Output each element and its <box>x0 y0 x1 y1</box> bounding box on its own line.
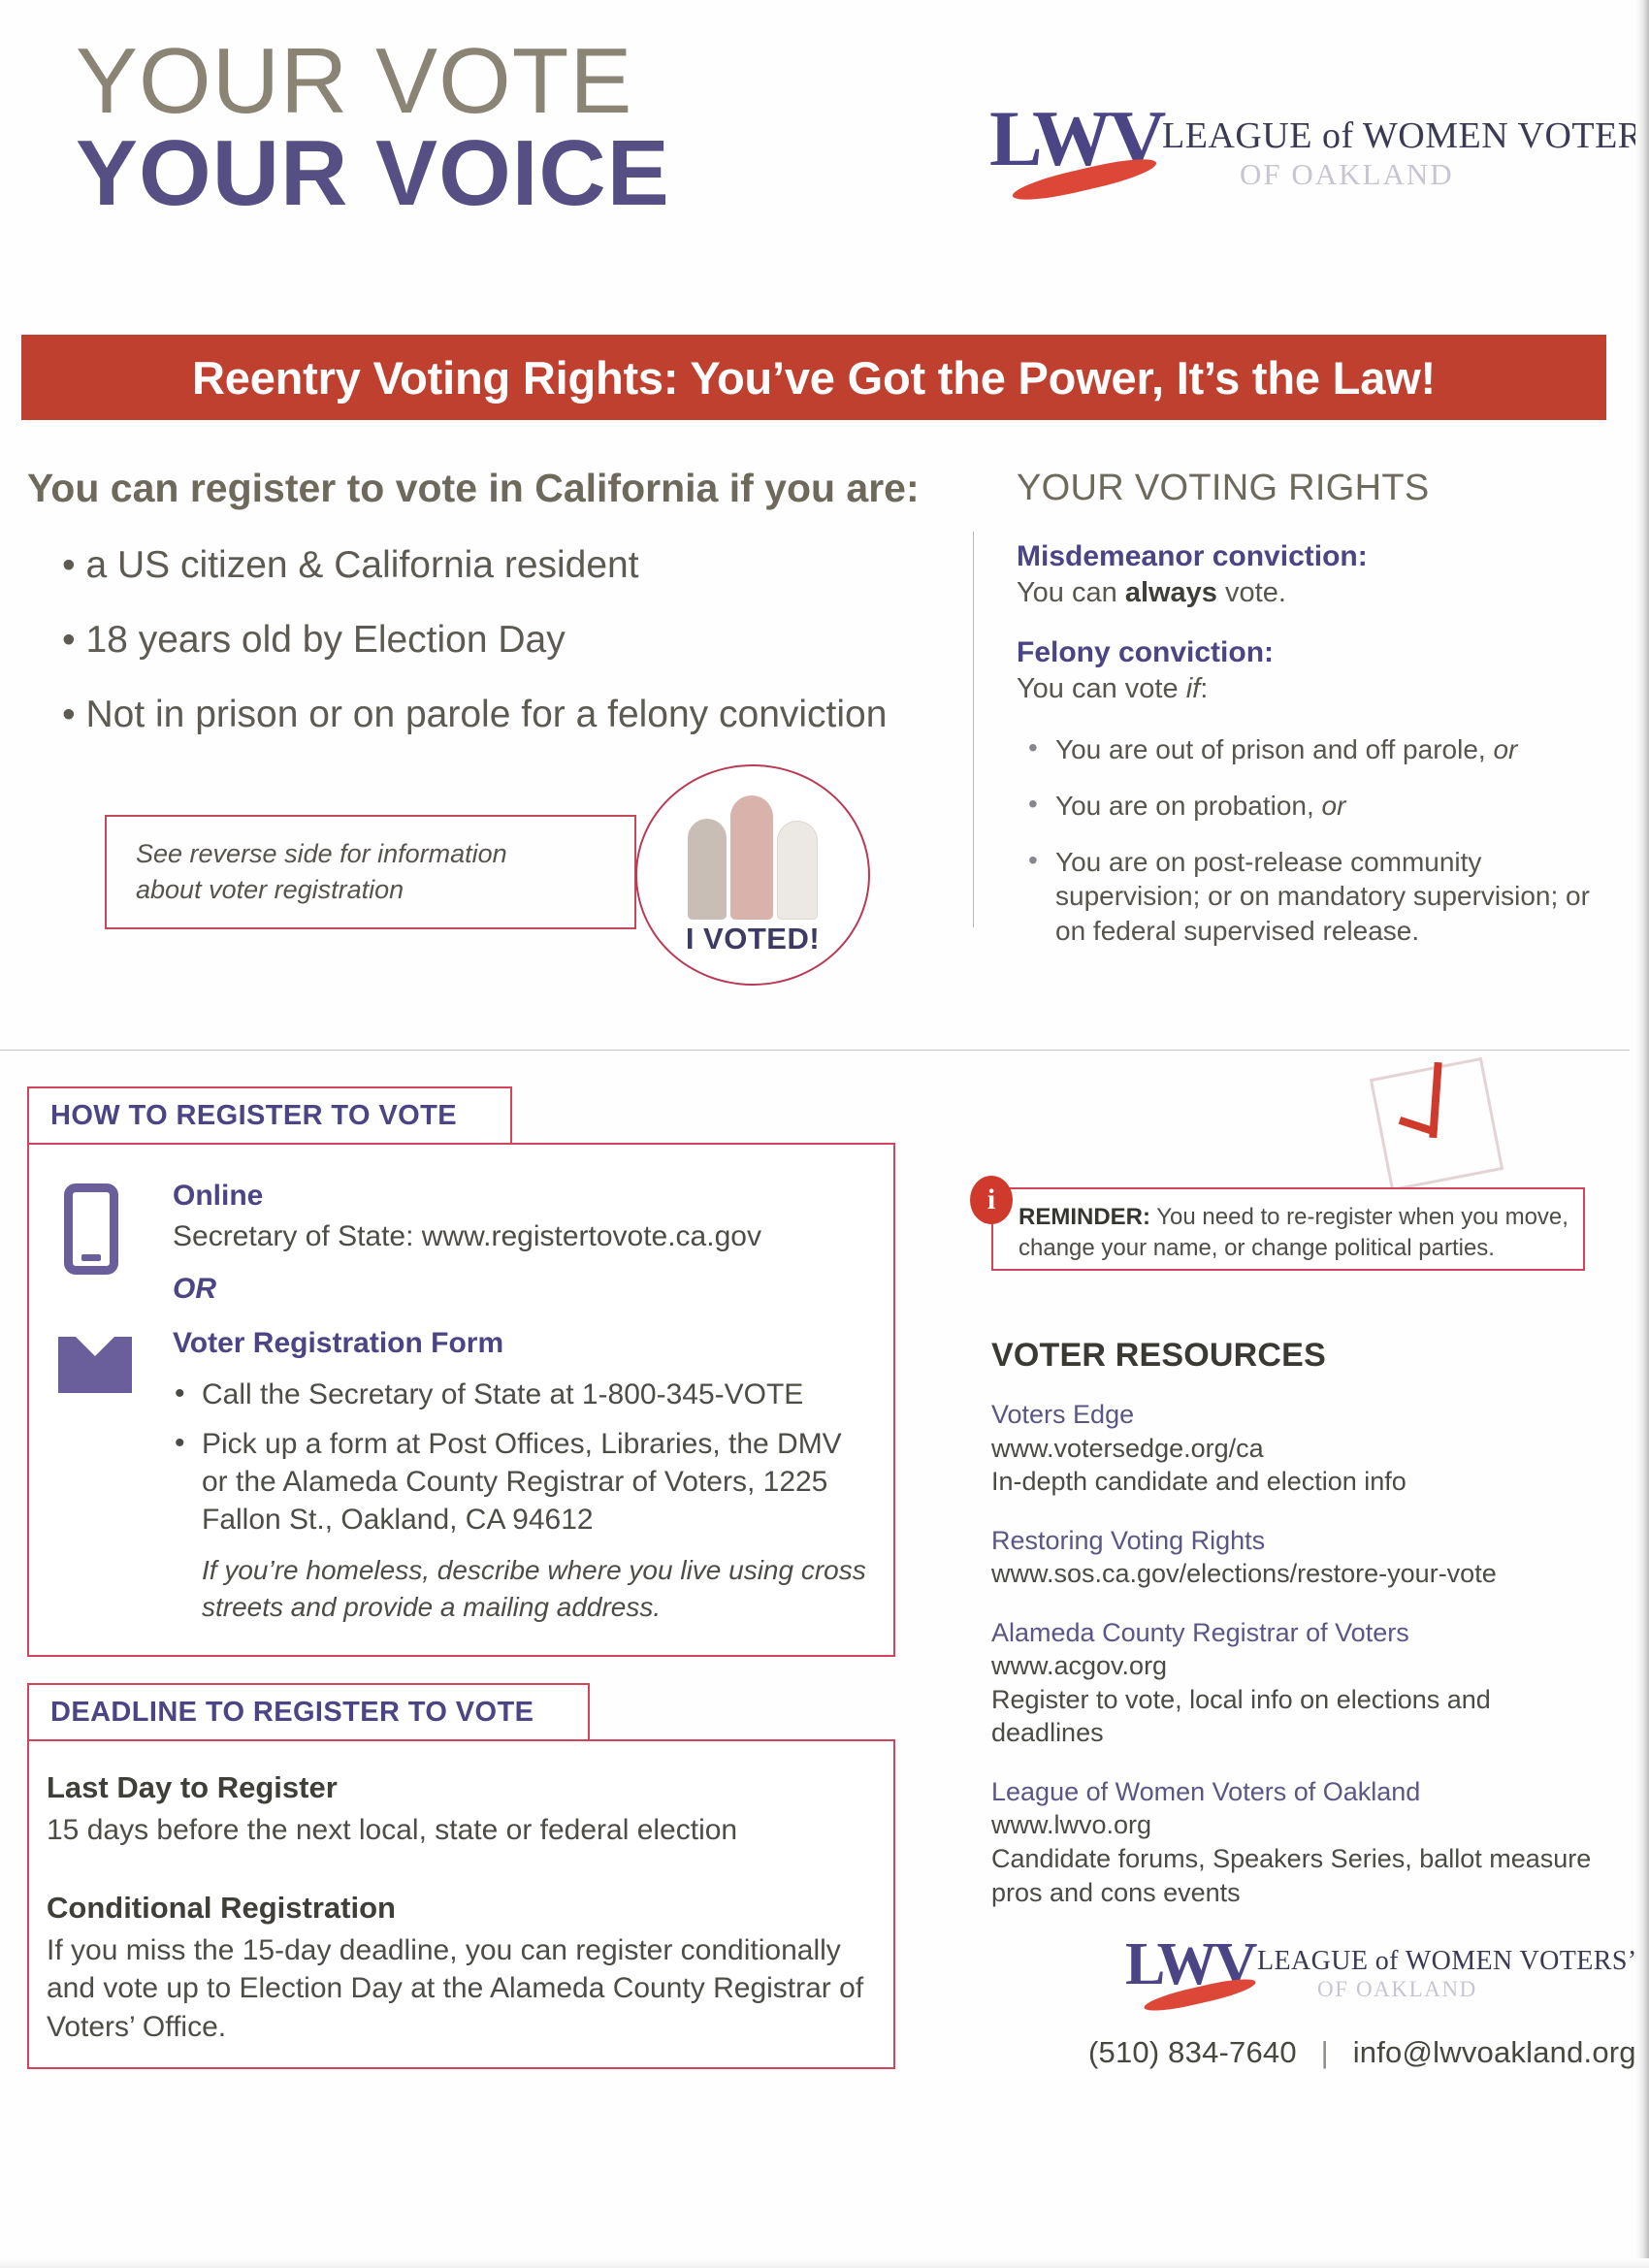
resource-url[interactable]: www.votersedge.org/ca <box>991 1432 1602 1466</box>
deadline-body: Last Day to Register 15 days before the … <box>27 1739 895 2069</box>
felony-bullet-text: You are on probation, <box>1055 791 1322 821</box>
title-line-2: YOUR VOICE <box>76 125 670 223</box>
headline-banner-text: Reentry Voting Rights: You’ve Got the Po… <box>192 351 1436 405</box>
resource-desc: Register to vote, local info on election… <box>991 1683 1602 1750</box>
resource-name: Alameda County Registrar of Voters <box>991 1616 1602 1650</box>
lwv-logo-line1: LEAGUE of WOMEN VOTERS’ <box>1162 114 1649 157</box>
scan-edge <box>1635 0 1649 2268</box>
headline-banner: Reentry Voting Rights: You’ve Got the Po… <box>21 335 1606 420</box>
last-day-body: 15 days before the next local, state or … <box>47 1811 871 1850</box>
eligibility-item: • 18 years old by Election Day <box>62 619 929 662</box>
footer-email[interactable]: info@lwvoakland.org <box>1353 2035 1636 2069</box>
resource-item: Voters Edge www.votersedge.org/ca In-dep… <box>991 1398 1602 1499</box>
resource-item: League of Women Voters of Oakland www.lw… <box>991 1775 1602 1909</box>
voting-rights-heading: YOUR VOTING RIGHTS <box>1017 468 1608 509</box>
form-note: If you’re homeless, describe where you l… <box>173 1552 871 1626</box>
felony-bullet-em: or <box>1493 734 1517 764</box>
voter-resources-heading: VOTER RESOURCES <box>991 1337 1602 1375</box>
i-voted-sticker: I VOTED! <box>635 764 870 986</box>
envelope-icon <box>58 1337 132 1393</box>
scan-edge <box>0 2258 1649 2268</box>
or-label: OR <box>173 1273 871 1306</box>
felony-bullet: You are out of prison and off parole, or <box>1028 732 1608 767</box>
flyer-page: YOUR VOTE YOUR VOICE LWV LEAGUE of WOMEN… <box>0 0 1649 2268</box>
title-line-1: YOUR VOTE <box>76 37 670 125</box>
misdemeanor-body: You can always vote. <box>1017 577 1608 609</box>
how-to-register-tab: HOW TO REGISTER TO VOTE <box>27 1086 512 1145</box>
deadline-tab-label: DEADLINE TO REGISTER TO VOTE <box>29 1697 533 1729</box>
hand-shape <box>688 819 727 920</box>
footer-separator: | <box>1306 2035 1344 2069</box>
raised-hands-icon <box>684 792 822 920</box>
reminder-text: REMINDER: You need to re-register when y… <box>993 1189 1583 1264</box>
online-title: Online <box>173 1180 871 1213</box>
hand-shape <box>777 821 818 920</box>
form-bullet: Pick up a form at Post Offices, Librarie… <box>173 1425 871 1539</box>
i-voted-label: I VOTED! <box>637 922 868 956</box>
felony-bullet: You are on post-release community superv… <box>1028 845 1608 949</box>
resource-url[interactable]: www.acgov.org <box>991 1649 1602 1683</box>
felony-bullet: You are on probation, or <box>1028 789 1608 824</box>
footer-phone[interactable]: (510) 834-7640 <box>1088 2035 1297 2069</box>
eligibility-item: • a US citizen & California resident <box>62 544 929 587</box>
felony-body: You can vote if: <box>1017 673 1608 705</box>
resource-name: Voters Edge <box>991 1398 1602 1432</box>
resource-desc: Candidate forums, Speakers Series, ballo… <box>991 1842 1602 1909</box>
reminder-box: REMINDER: You need to re-register when y… <box>991 1187 1585 1271</box>
resource-desc: In-depth candidate and election info <box>991 1465 1602 1499</box>
felony-title: Felony conviction: <box>1017 636 1608 669</box>
lwv-logo-header: LWV LEAGUE of WOMEN VOTERS’ OF OAKLAND <box>989 109 1571 215</box>
lwv-logo-line2: OF OAKLAND <box>1317 1977 1477 2002</box>
resource-item: Restoring Voting Rights www.sos.ca.gov/e… <box>991 1524 1602 1591</box>
lwv-logo-line1: LEAGUE of WOMEN VOTERS’ <box>1257 1946 1637 1977</box>
misdemeanor-body-pre: You can <box>1017 577 1125 608</box>
reminder-label: REMINDER: <box>1018 1204 1150 1230</box>
column-divider <box>973 532 974 927</box>
form-title: Voter Registration Form <box>173 1327 871 1360</box>
form-bullet: Call the Secretary of State at 1-800-345… <box>173 1376 871 1413</box>
misdemeanor-title: Misdemeanor conviction: <box>1017 540 1608 573</box>
deadline-tab: DEADLINE TO REGISTER TO VOTE <box>27 1683 590 1741</box>
felony-bullet-text: You are out of prison and off parole, <box>1055 734 1493 764</box>
felony-body-pre: You can vote <box>1017 673 1186 704</box>
reverse-side-line1: See reverse side for information <box>136 839 507 868</box>
how-to-register-tab-label: HOW TO REGISTER TO VOTE <box>29 1100 457 1132</box>
lwv-logo-footer: LWV LEAGUE of WOMEN VOTERS’ OF OAKLAND <box>1125 1940 1610 2033</box>
section-divider <box>0 1050 1630 1051</box>
felony-bullet-text: You are on post-release community superv… <box>1055 847 1590 947</box>
resource-name: League of Women Voters of Oakland <box>991 1775 1602 1809</box>
page-title: YOUR VOTE YOUR VOICE <box>76 37 670 223</box>
checkmark-icon <box>1389 1062 1457 1138</box>
resource-url[interactable]: www.lwvo.org <box>991 1808 1602 1842</box>
felony-bullet-em: or <box>1322 791 1346 821</box>
eligibility-section: You can register to vote in California i… <box>27 466 929 768</box>
reverse-side-callout: See reverse side for information about v… <box>105 815 636 929</box>
resource-item: Alameda County Registrar of Voters www.a… <box>991 1616 1602 1750</box>
info-icon-glyph: i <box>987 1185 995 1215</box>
eligibility-item: • Not in prison or on parole for a felon… <box>62 694 929 736</box>
resource-url[interactable]: www.sos.ca.gov/elections/restore-your-vo… <box>991 1557 1602 1591</box>
conditional-title: Conditional Registration <box>47 1891 871 1926</box>
felony-body-post: : <box>1200 673 1208 704</box>
info-icon: i <box>970 1176 1013 1224</box>
footer-contact: (510) 834-7640 | info@lwvoakland.org <box>1088 2035 1636 2070</box>
conditional-body: If you miss the 15-day deadline, you can… <box>47 1931 871 2047</box>
voting-rights-section: YOUR VOTING RIGHTS Misdemeanor convictio… <box>1017 468 1608 970</box>
eligibility-heading: You can register to vote in California i… <box>27 466 929 511</box>
misdemeanor-body-post: vote. <box>1217 577 1286 608</box>
felony-body-em: if <box>1186 673 1201 704</box>
mobile-phone-icon <box>64 1183 118 1275</box>
online-detail: Secretary of State: www.registertovote.c… <box>173 1220 871 1253</box>
reverse-side-text: See reverse side for information about v… <box>107 836 507 909</box>
resource-name: Restoring Voting Rights <box>991 1524 1602 1558</box>
misdemeanor-body-strong: always <box>1125 577 1217 608</box>
header: YOUR VOTE YOUR VOICE LWV LEAGUE of WOMEN… <box>0 0 1649 310</box>
reverse-side-line2: about voter registration <box>136 875 404 904</box>
voter-resources-section: VOTER RESOURCES Voters Edge www.votersed… <box>991 1337 1602 1934</box>
how-to-register-body: Online Secretary of State: www.registert… <box>27 1143 895 1657</box>
lwv-logo-line2: OF OAKLAND <box>1240 157 1454 192</box>
hand-shape <box>730 795 773 920</box>
last-day-title: Last Day to Register <box>47 1770 871 1805</box>
